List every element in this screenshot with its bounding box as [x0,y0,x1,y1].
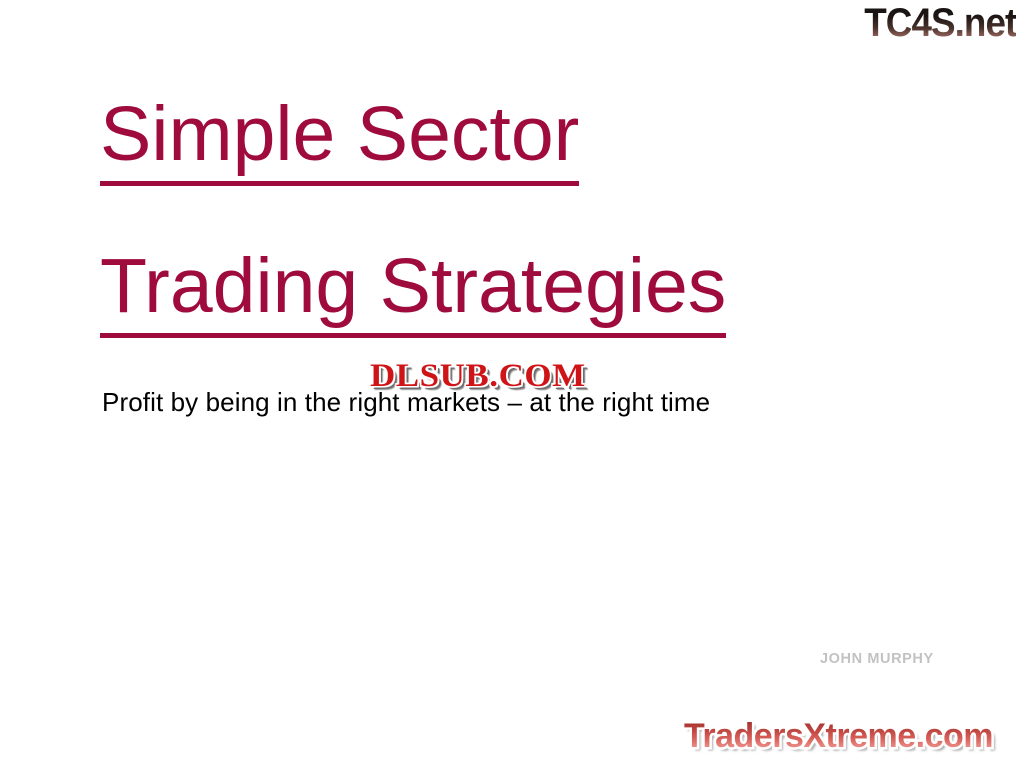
tc4s-site-logo: TC4S.net [864,2,1016,44]
author-credit: JOHN MURPHY [820,651,934,667]
title-line-2-text: Trading Strategies [100,248,726,338]
tradersxtreme-banner-text: TradersXtreme.com [684,717,993,755]
subtitle-text: Profit by being in the right markets – a… [102,387,710,418]
presentation-slide: TC4S.net Simple Sector Trading Strategie… [0,0,1024,768]
title-line-2: Trading Strategies [100,248,960,338]
title-line-1-text: Simple Sector [100,96,579,186]
title-line-1: Simple Sector [100,96,960,186]
page-title: Simple Sector Trading Strategies [100,96,960,338]
tradersxtreme-banner: TradersXtreme.com TradersXtreme.com [684,718,993,755]
